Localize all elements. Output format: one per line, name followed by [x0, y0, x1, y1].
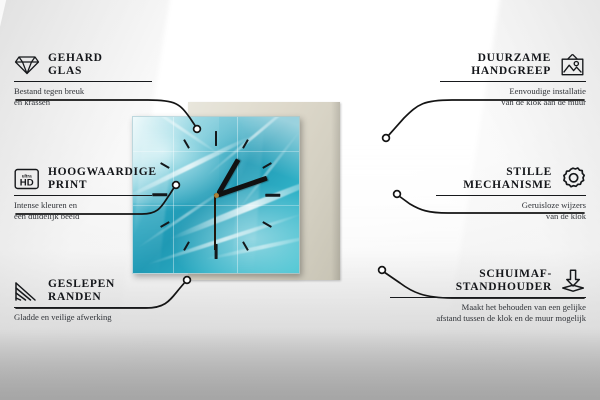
- beveled-edges-icon: [14, 280, 40, 302]
- foam-standoff-icon: [560, 268, 586, 294]
- feature-subtitle: Maakt het behouden van een gelijke afsta…: [388, 302, 586, 323]
- feature-rule: [14, 195, 152, 196]
- feature-header: STILLE MECHANISME: [434, 166, 586, 192]
- feature-geslepen-randen: GESLEPEN RANDEN Gladde en veilige afwerk…: [14, 278, 159, 323]
- ultra-hd-icon: ultra HD: [14, 167, 40, 191]
- feature-hoogwaardige-print: ultra HD HOOGWAARDIGE PRINT Intense kleu…: [14, 166, 154, 222]
- feature-subtitle: Intense kleuren en een duidelijk beeld: [14, 200, 154, 221]
- connector-dot-stille-mechanisme: [394, 191, 401, 198]
- feature-header: SCHUIMAF- STANDHOUDER: [388, 268, 586, 294]
- feature-subtitle: Bestand tegen breuk en krassen: [14, 86, 154, 107]
- feature-rule: [436, 195, 586, 196]
- feature-subtitle: Eenvoudige installatie van de klok aan d…: [438, 86, 586, 107]
- gear-icon: [560, 166, 586, 192]
- connector-dot-gehard-glas: [194, 126, 201, 133]
- feature-rule: [14, 307, 157, 308]
- feature-header: GESLEPEN RANDEN: [14, 278, 159, 304]
- feature-title: SCHUIMAF- STANDHOUDER: [456, 268, 552, 294]
- feature-gehard-glas: GEHARD GLAS Bestand tegen breuk en krass…: [14, 52, 154, 108]
- feature-header: GEHARD GLAS: [14, 52, 154, 78]
- feature-rule: [14, 81, 152, 82]
- feature-rule: [390, 297, 586, 298]
- ultra-hd-large-text: HD: [20, 178, 34, 189]
- feature-title: DUURZAME HANDGREEP: [471, 52, 551, 78]
- connector-dot-geslepen-randen: [184, 277, 191, 284]
- feature-title: GEHARD GLAS: [48, 52, 103, 78]
- feature-title: GESLEPEN RANDEN: [48, 278, 115, 304]
- diamond-icon: [14, 54, 40, 76]
- feature-subtitle: Gladde en veilige afwerking: [14, 312, 159, 323]
- infographic-canvas: GEHARD GLAS Bestand tegen breuk en krass…: [0, 0, 600, 400]
- feature-stille-mechanisme: STILLE MECHANISME Geruisloze wijzers van…: [434, 166, 586, 222]
- hanging-frame-icon: [559, 53, 586, 77]
- feature-rule: [440, 81, 586, 82]
- feature-title: STILLE MECHANISME: [463, 166, 552, 192]
- connector-dot-duurzame-handgreep: [383, 135, 390, 142]
- connector-dot-hoogwaardige-print: [173, 182, 180, 189]
- feature-schuimaf-standhouder: SCHUIMAF- STANDHOUDER Maakt het behouden…: [388, 268, 586, 324]
- feature-title: HOOGWAARDIGE PRINT: [48, 166, 157, 192]
- feature-header: DUURZAME HANDGREEP: [438, 52, 586, 78]
- feature-subtitle: Geruisloze wijzers van de klok: [434, 200, 586, 221]
- connector-dot-schuimaf-standhouder: [379, 267, 386, 274]
- feature-duurzame-handgreep: DUURZAME HANDGREEP Eenvoudige installati…: [438, 52, 586, 108]
- feature-header: ultra HD HOOGWAARDIGE PRINT: [14, 166, 154, 192]
